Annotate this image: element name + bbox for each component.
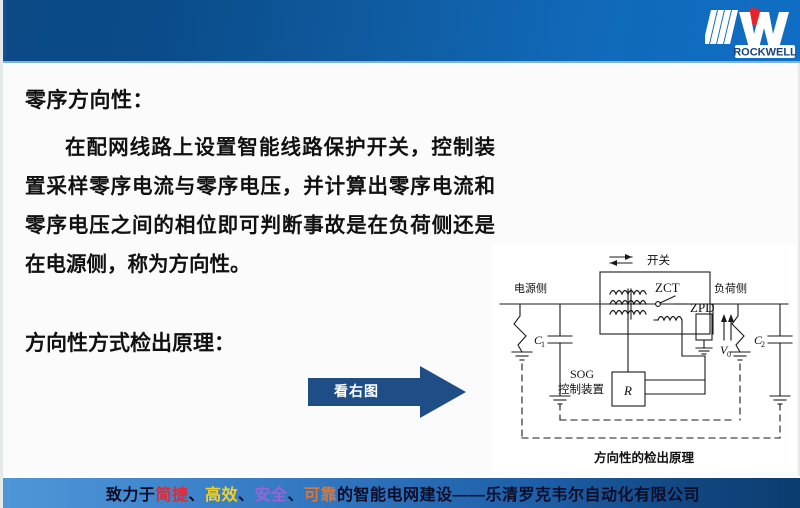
slide-header: ROCKWELL bbox=[3, 0, 800, 63]
footer-keyword-2: 高效 bbox=[205, 481, 238, 505]
footer-suffix: 的智能电网建设——乐清罗克韦尔自动化有限公司 bbox=[337, 481, 700, 505]
circuit-diagram: 开关 电源侧 负荷侧 ZCT ZPD V 0 SOG 控制装置 R C 1 C … bbox=[492, 244, 796, 472]
body-paragraph: 在配网线路上设置智能线路保护开关，控制装置采样零序电流与零序电压，并计算出零序电… bbox=[25, 128, 495, 284]
footer-keyword-1: 简捷 bbox=[155, 481, 188, 505]
section-subtitle: 方向性方式检出原理： bbox=[25, 327, 235, 357]
diagram-caption: 方向性的检出原理 bbox=[594, 450, 695, 465]
label-resistor: R bbox=[623, 383, 632, 398]
label-zct: ZCT bbox=[655, 280, 680, 295]
logo-wordmark: ROCKWELL bbox=[733, 47, 797, 59]
arrow-label: 看右图 bbox=[334, 381, 379, 401]
arrow-shape bbox=[308, 366, 468, 418]
slide-root: ROCKWELL 零序方向性： 在配网线路上设置智能线路保护开关，控制装置采样零… bbox=[0, 0, 800, 508]
see-right-figure-arrow[interactable]: 看右图 bbox=[308, 366, 468, 418]
label-sog-cn: 控制装置 bbox=[558, 382, 604, 396]
footer-keyword-4: 可靠 bbox=[304, 481, 337, 505]
label-zpd: ZPD bbox=[690, 300, 715, 315]
label-sog: SOG bbox=[570, 367, 594, 381]
label-v0-subscript: 0 bbox=[727, 350, 731, 359]
label-source-side: 电源侧 bbox=[514, 281, 547, 295]
label-switch: 开关 bbox=[647, 253, 670, 267]
footer-separator-1: 、 bbox=[188, 481, 205, 505]
header-left-edge bbox=[3, 0, 7, 61]
footer-separator-3: 、 bbox=[288, 481, 305, 505]
footer-text: 致力于 简捷 、 高效 、 安全 、 可靠 的智能电网建设——乐清罗克韦尔自动化… bbox=[3, 478, 800, 508]
footer-keyword-3: 安全 bbox=[255, 481, 288, 505]
slide-footer: 致力于 简捷 、 高效 、 安全 、 可靠 的智能电网建设——乐清罗克韦尔自动化… bbox=[3, 476, 800, 508]
page-title: 零序方向性： bbox=[25, 84, 154, 114]
label-c1-subscript: 1 bbox=[541, 340, 545, 349]
rockwell-logo: ROCKWELL bbox=[705, 4, 797, 60]
footer-prefix: 致力于 bbox=[106, 481, 156, 505]
label-load-side: 负荷侧 bbox=[714, 281, 747, 295]
label-c2-subscript: 2 bbox=[761, 340, 765, 349]
footer-separator-2: 、 bbox=[238, 481, 255, 505]
